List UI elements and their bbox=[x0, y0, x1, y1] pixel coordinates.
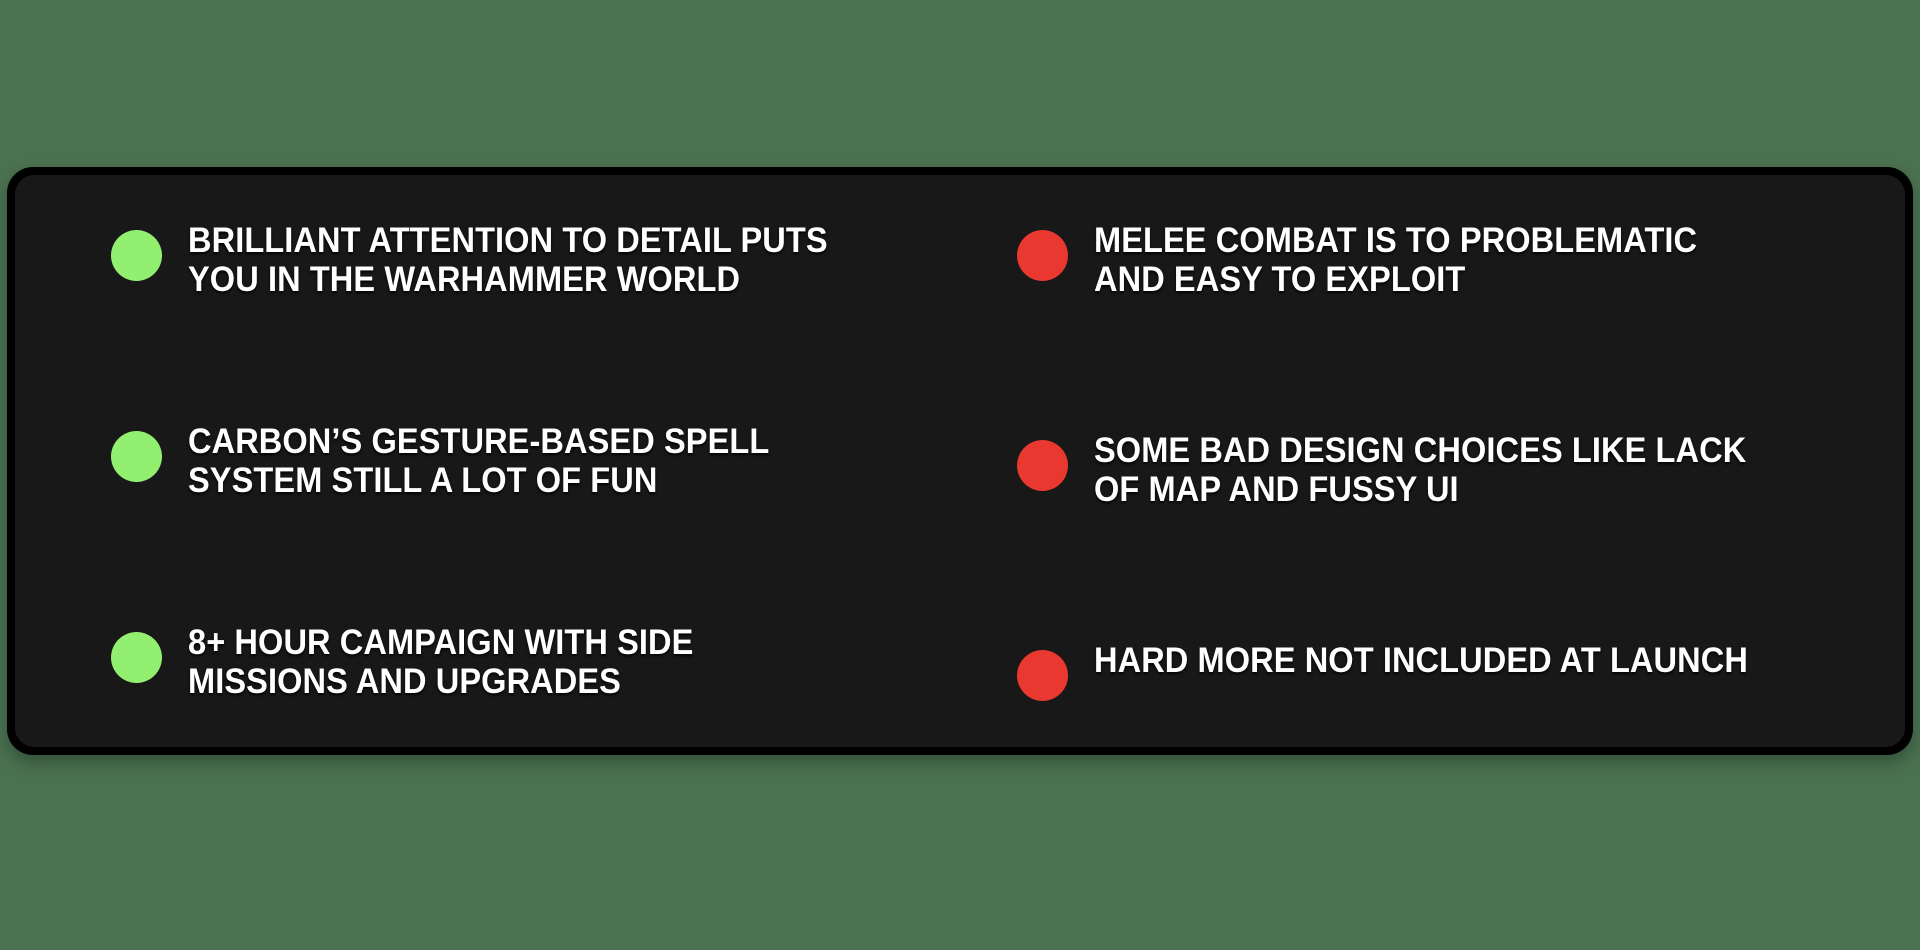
page-background: BRILLIANT ATTENTION TO DETAIL PUTS YOU I… bbox=[0, 0, 1920, 950]
pro-point-3-label: 8+ HOUR CAMPAIGN WITH SIDE MISSIONS AND … bbox=[188, 623, 693, 701]
verdict-card: BRILLIANT ATTENTION TO DETAIL PUTS YOU I… bbox=[7, 167, 1913, 755]
pro-point-3: 8+ HOUR CAMPAIGN WITH SIDE MISSIONS AND … bbox=[111, 623, 959, 701]
con-point-2-label: SOME BAD DESIGN CHOICES LIKE LACK OF MAP… bbox=[1094, 431, 1746, 509]
green-dot-icon bbox=[111, 431, 162, 482]
pro-point-1-label: BRILLIANT ATTENTION TO DETAIL PUTS YOU I… bbox=[188, 221, 828, 299]
pros-column: BRILLIANT ATTENTION TO DETAIL PUTS YOU I… bbox=[15, 221, 989, 701]
con-point-1-label: MELEE COMBAT IS TO PROBLEMATIC AND EASY … bbox=[1094, 221, 1697, 299]
verdict-card-surface: BRILLIANT ATTENTION TO DETAIL PUTS YOU I… bbox=[15, 175, 1905, 747]
con-point-3-label: HARD MORE NOT INCLUDED AT LAUNCH bbox=[1094, 641, 1748, 680]
pro-point-2: CARBON’S GESTURE-BASED SPELL SYSTEM STIL… bbox=[111, 422, 959, 500]
green-dot-icon bbox=[111, 230, 162, 281]
red-dot-icon bbox=[1017, 650, 1068, 701]
con-point-1: MELEE COMBAT IS TO PROBLEMATIC AND EASY … bbox=[1017, 221, 1865, 299]
pro-point-2-label: CARBON’S GESTURE-BASED SPELL SYSTEM STIL… bbox=[188, 422, 769, 500]
red-dot-icon bbox=[1017, 230, 1068, 281]
con-point-3: HARD MORE NOT INCLUDED AT LAUNCH bbox=[1017, 641, 1865, 701]
green-dot-icon bbox=[111, 632, 162, 683]
cons-column: MELEE COMBAT IS TO PROBLEMATIC AND EASY … bbox=[989, 221, 1905, 701]
pro-point-1: BRILLIANT ATTENTION TO DETAIL PUTS YOU I… bbox=[111, 221, 959, 299]
verdict-columns: BRILLIANT ATTENTION TO DETAIL PUTS YOU I… bbox=[15, 175, 1905, 747]
red-dot-icon bbox=[1017, 440, 1068, 491]
con-point-2: SOME BAD DESIGN CHOICES LIKE LACK OF MAP… bbox=[1017, 431, 1865, 509]
